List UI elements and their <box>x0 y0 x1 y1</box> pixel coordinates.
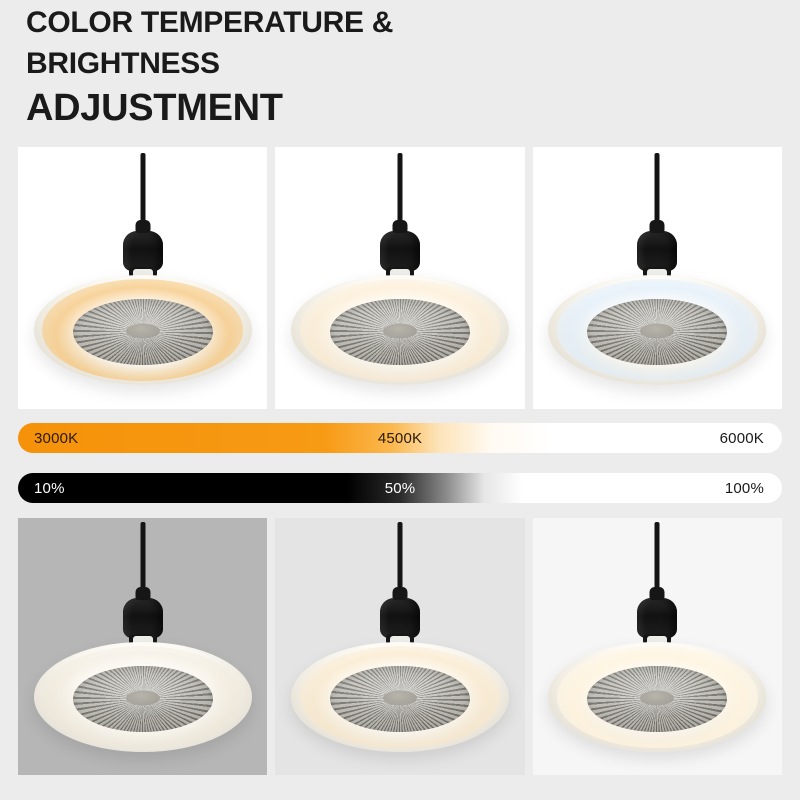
color-temperature-photo-row <box>18 147 782 409</box>
lamp-illustration-bright <box>533 518 782 775</box>
photo-dim-lamp <box>18 518 267 775</box>
lamp-fan-well <box>587 299 727 365</box>
brightness-label-mid: 50% <box>385 473 416 503</box>
lamp-shade <box>548 275 766 385</box>
lamp-illustration-warm <box>18 147 267 409</box>
page-title-line-3: ADJUSTMENT <box>26 89 766 128</box>
lamp-illustration-cool <box>533 147 782 409</box>
lamp-shade <box>34 642 252 752</box>
lamp-shade <box>548 642 766 752</box>
lamp-fan-well <box>73 299 213 365</box>
brightness-photo-row <box>18 518 782 775</box>
brightness-label-start: 10% <box>34 473 65 503</box>
lamp-fan-well <box>587 666 727 732</box>
temperature-label-mid: 4500K <box>378 423 422 453</box>
lamp-socket-icon <box>123 598 163 638</box>
fan-hub-icon <box>640 323 674 338</box>
page-title-line-2: BRIGHTNESS <box>26 49 766 80</box>
lamp-shade <box>291 275 509 385</box>
photo-bright-lamp <box>533 518 782 775</box>
lamp-fan-well <box>330 299 470 365</box>
lamp-illustration-neutral <box>275 147 524 409</box>
lamp-fan-well <box>330 666 470 732</box>
fan-hub-icon <box>383 690 417 705</box>
fan-hub-icon <box>383 323 417 338</box>
temperature-label-end: 6000K <box>720 423 764 453</box>
photo-warm-white-lamp <box>18 147 267 409</box>
page-title-line-1: COLOR TEMPERATURE & <box>26 8 766 39</box>
brightness-label-end: 100% <box>725 473 764 503</box>
photo-cool-white-lamp <box>533 147 782 409</box>
fan-hub-icon <box>126 690 160 705</box>
lamp-socket-icon <box>637 231 677 271</box>
photo-medium-lamp <box>275 518 524 775</box>
lamp-illustration-medium <box>275 518 524 775</box>
lamp-socket-icon <box>123 231 163 271</box>
page-title: COLOR TEMPERATURE & BRIGHTNESS ADJUSTMEN… <box>26 8 766 128</box>
lamp-shade <box>291 642 509 752</box>
lamp-socket-icon <box>380 231 420 271</box>
lamp-fan-well <box>73 666 213 732</box>
lamp-socket-icon <box>380 598 420 638</box>
color-temperature-scale[interactable]: 3000K 4500K 6000K <box>18 423 782 453</box>
temperature-label-start: 3000K <box>34 423 78 453</box>
lamp-shade <box>34 275 252 385</box>
photo-neutral-white-lamp <box>275 147 524 409</box>
fan-hub-icon <box>640 690 674 705</box>
lamp-socket-icon <box>637 598 677 638</box>
brightness-scale[interactable]: 10% 50% 100% <box>18 473 782 503</box>
lamp-illustration-dim <box>18 518 267 775</box>
fan-hub-icon <box>126 323 160 338</box>
